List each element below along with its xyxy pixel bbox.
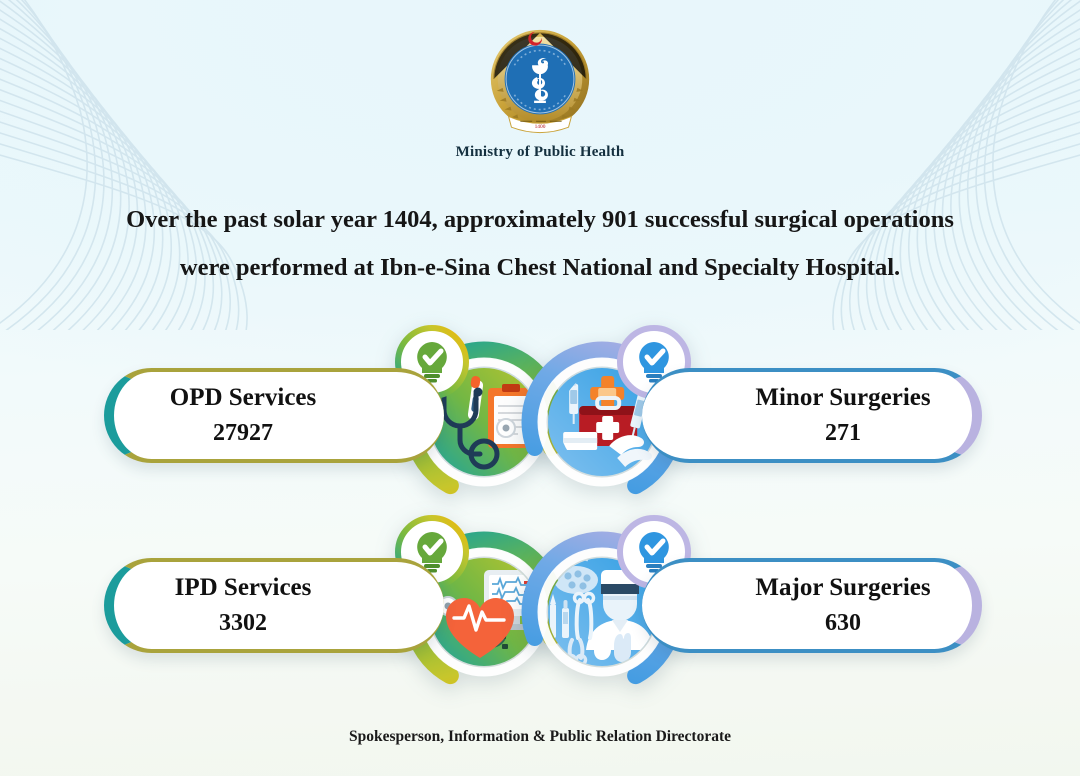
footer-credit: Spokesperson, Information & Public Relat… [0, 728, 1080, 746]
headline: Over the past solar year 1404, approxima… [60, 196, 1020, 292]
ministry-logo-block: 1400 Ministry of Public Health [0, 22, 1080, 161]
ministry-name: Ministry of Public Health [0, 144, 1080, 161]
stat-value: 3302 [219, 610, 267, 637]
stat-pill[interactable]: OPD Services 27927 [104, 368, 444, 463]
stat-value: 630 [825, 610, 861, 637]
stat-pill[interactable]: IPD Services 3302 [104, 558, 444, 653]
stat-title: Major Surgeries [755, 574, 930, 603]
stat-card-minor-surgeries[interactable]: Minor Surgeries 271 [532, 318, 982, 506]
headline-line-1: Over the past solar year 1404, approxima… [126, 206, 954, 233]
stat-card-major-surgeries[interactable]: Major Surgeries 630 [532, 508, 982, 696]
stat-pill[interactable]: Minor Surgeries 271 [642, 368, 982, 463]
stat-card-opd-services[interactable]: OPD Services 27927 [104, 318, 554, 506]
stat-card-ipd-services[interactable]: IPD Services 3302 [104, 508, 554, 696]
infographic-poster: 1400 Ministry of Public Health Over the … [0, 0, 1080, 776]
stat-cards: OPD Services 27927 [0, 318, 1080, 696]
stat-value: 27927 [213, 420, 273, 447]
stat-title: Minor Surgeries [755, 384, 930, 413]
ministry-emblem-icon: 1400 [481, 22, 599, 140]
stat-pill[interactable]: Major Surgeries 630 [642, 558, 982, 653]
stat-value: 271 [825, 420, 861, 447]
stat-title: OPD Services [170, 384, 316, 413]
svg-text:1400: 1400 [535, 124, 546, 130]
stat-title: IPD Services [175, 574, 312, 603]
headline-line-2: were performed at Ibn-e-Sina Chest Natio… [60, 244, 1020, 292]
